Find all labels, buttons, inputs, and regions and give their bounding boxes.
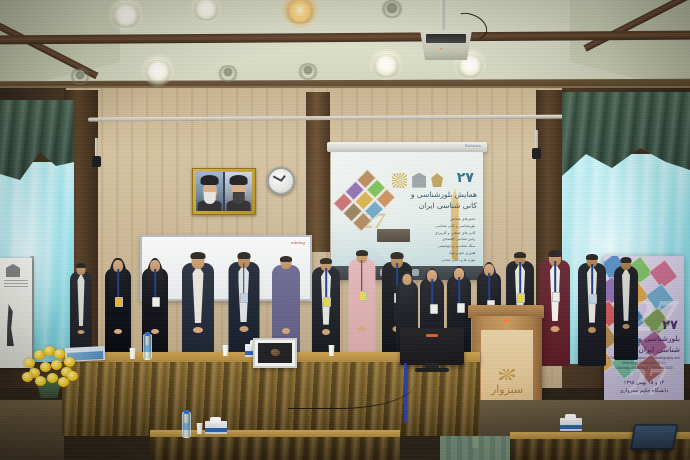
person-suit-6-lanyard: [591, 264, 593, 295]
person-chador-1-hands: [114, 329, 122, 334]
slide-topics-lines: بلورشناسی و کانی شناسیکانی های صنعتی و ک…: [412, 223, 476, 264]
flower-bloom-1: [24, 358, 35, 368]
projector-mount-pole: [440, 0, 445, 34]
university-emblem-icon: [431, 173, 443, 187]
spotlight-4-icon: [386, 2, 397, 13]
crystal-lattice-logo-icon: [392, 173, 407, 188]
slide-topic-3: زمین شناسی اقتصادی: [412, 236, 476, 243]
slide-edition-number: ۲۷: [457, 170, 474, 186]
person-suit-6-badge: [589, 294, 597, 304]
person-suit-5-lanyard: [519, 262, 521, 294]
flower-bloom-11: [35, 376, 46, 386]
lectern-emblem-icon: [499, 369, 515, 380]
camera-bracket-left: [95, 138, 98, 158]
flower-arrangement: [20, 338, 78, 398]
conference-hall-photo: edding Reflecta 27 ۲۷ همایش بلورشناسی و …: [0, 0, 690, 460]
person-suit-7-hair: [76, 263, 86, 268]
person-back-1-hands: [623, 324, 630, 329]
person-suit-5-hair: [514, 252, 526, 258]
banner-edition-number: ۲۷: [662, 318, 678, 333]
monitor-base: [415, 368, 449, 372]
person-hijab-3-lanyard: [458, 277, 460, 304]
water-bottle-1: [143, 334, 152, 360]
security-camera-left-icon: [92, 156, 101, 167]
slide-topics-heading: محورهای همایش: [412, 216, 476, 223]
portrait-khomeini: [225, 172, 252, 211]
banner-title-en-line3: University of Sabzevar · February 2020: [608, 366, 680, 371]
person-vest-1: [540, 248, 570, 366]
slide-topic-5: فناوری نانو و مواد: [412, 250, 476, 257]
laptop: [630, 424, 679, 450]
flower-bloom-8: [51, 360, 62, 370]
person-hijab-5-head: [403, 274, 412, 285]
person-hijab-1-lanyard: [154, 269, 156, 298]
person-hijab-1-hands: [151, 329, 159, 334]
person-shirt-2-hands: [358, 326, 366, 331]
person-back-1: [614, 256, 638, 360]
whiteboard-brand-label: edding: [291, 240, 305, 245]
ceiling-projector: [420, 30, 472, 60]
framed-leader-portraits: [192, 168, 256, 215]
person-vest-1-badge: [552, 292, 560, 302]
front-table-tissues: [205, 421, 227, 434]
person-suit-1-hair: [191, 252, 206, 259]
flower-bloom-14: [67, 371, 78, 381]
person-chador-1-badge: [115, 297, 123, 307]
front-table-bottle: [182, 412, 191, 438]
person-shirt-1-hair: [280, 256, 292, 262]
person-suit-7-hands: [78, 330, 85, 334]
person-vest-1-hair: [549, 250, 562, 257]
person-shirt-2-hair: [356, 250, 368, 256]
slide-topic-4: سنگ شناسی و ژئوشیمی: [412, 243, 476, 250]
banner-host-block: ۱۴ و ۱۵ بهمن ۱۳۹۸ دانشگاه حکیم سبزواری: [608, 380, 680, 395]
museum-building-logo-icon: [412, 173, 426, 188]
person-suit-6: [578, 252, 606, 366]
slide-topic-1: بلورشناسی و کانی شناسی: [412, 223, 476, 230]
head-table-skirt: [62, 362, 480, 436]
person-suit-1-hands: [193, 327, 203, 333]
right-table-tissues: [560, 418, 582, 431]
person-chador-1: [105, 258, 131, 366]
floor-left: [0, 400, 64, 460]
slide-logo-row: [392, 167, 444, 193]
projector-vent: [426, 34, 466, 43]
person-shirt-2: [348, 248, 375, 366]
slide-title: همایش بلورشناسی و کانی شناسی ایران: [395, 190, 477, 212]
banner-date-fa: ۱۴ و ۱۵ بهمن ۱۳۹۸: [608, 380, 680, 388]
flower-bloom-10: [22, 372, 33, 382]
slide-topics-list: محورهای همایش بلورشناسی و کانی شناسیکانی…: [412, 216, 476, 264]
person-hijab-3-badge: [457, 303, 465, 313]
lectern-light-icon: [504, 319, 509, 322]
person-hijab-2-lanyard: [431, 279, 433, 305]
person-suit-3: [312, 256, 340, 366]
security-camera-right-icon: [532, 148, 541, 159]
monitor-brand-icon: [426, 334, 438, 337]
person-suit-3-hands: [322, 329, 330, 335]
flower-bloom-4: [54, 349, 65, 359]
person-hijab-4-lanyard: [488, 273, 490, 301]
person-suit-3-badge: [323, 297, 331, 307]
banner-left-text-block: [4, 280, 28, 287]
camera-bracket-right: [535, 130, 538, 150]
slide-topic-2: کانی های صنعتی و کاربردی: [412, 230, 476, 237]
projection-screen-case: Reflecta: [327, 142, 487, 152]
projector-led-icon: [440, 48, 442, 50]
person-suit-2-lanyard: [243, 263, 245, 294]
wall-clock: [267, 167, 295, 195]
slide-topic-6: موزه ها و ذخایر معدنی: [412, 257, 476, 264]
spotlight-9-icon: [369, 47, 403, 81]
person-suit-2-hair: [237, 252, 250, 259]
banner-host-fa: دانشگاه حکیم سبزواری: [608, 388, 680, 396]
person-shirt-1-hands: [282, 328, 290, 334]
desktop-monitor: [400, 328, 464, 365]
person-suit-2-badge: [240, 293, 248, 303]
person-vest-1-lanyard: [554, 261, 556, 293]
person-shirt-2-lanyard: [361, 260, 363, 292]
slide-caption-plate: [377, 229, 410, 242]
lectern-script: سبزوار: [491, 383, 523, 396]
flower-bloom-12: [47, 373, 58, 383]
person-hijab-1-badge: [152, 297, 160, 307]
portrait-khamenei: [196, 172, 223, 211]
spotlight-6-icon: [141, 53, 175, 87]
person-vest-1-hands: [551, 326, 560, 332]
person-shirt-2-badge: [359, 291, 367, 301]
person-suit-2-hands: [239, 326, 248, 332]
person-suit-1: [182, 250, 214, 366]
person-suit-5-badge: [517, 293, 525, 303]
person-suit-3-hair: [320, 258, 332, 264]
banner-left-logo-icon: [6, 264, 20, 277]
flower-bloom-5: [64, 357, 75, 367]
screen-brand-label: Reflecta: [465, 144, 481, 148]
front-table-skirt: [150, 437, 400, 460]
banner-left-figure-graphic: [3, 304, 17, 346]
person-suit-4-hair: [391, 252, 404, 259]
person-hijab-2-badge: [430, 304, 438, 314]
person-back-1-hair: [621, 257, 632, 263]
person-suit-6-hands: [588, 327, 596, 333]
person-suit-3-lanyard: [325, 268, 327, 298]
person-chador-1-lanyard: [117, 269, 119, 298]
flower-bloom-7: [40, 362, 51, 372]
person-suit-6-hair: [586, 254, 598, 260]
